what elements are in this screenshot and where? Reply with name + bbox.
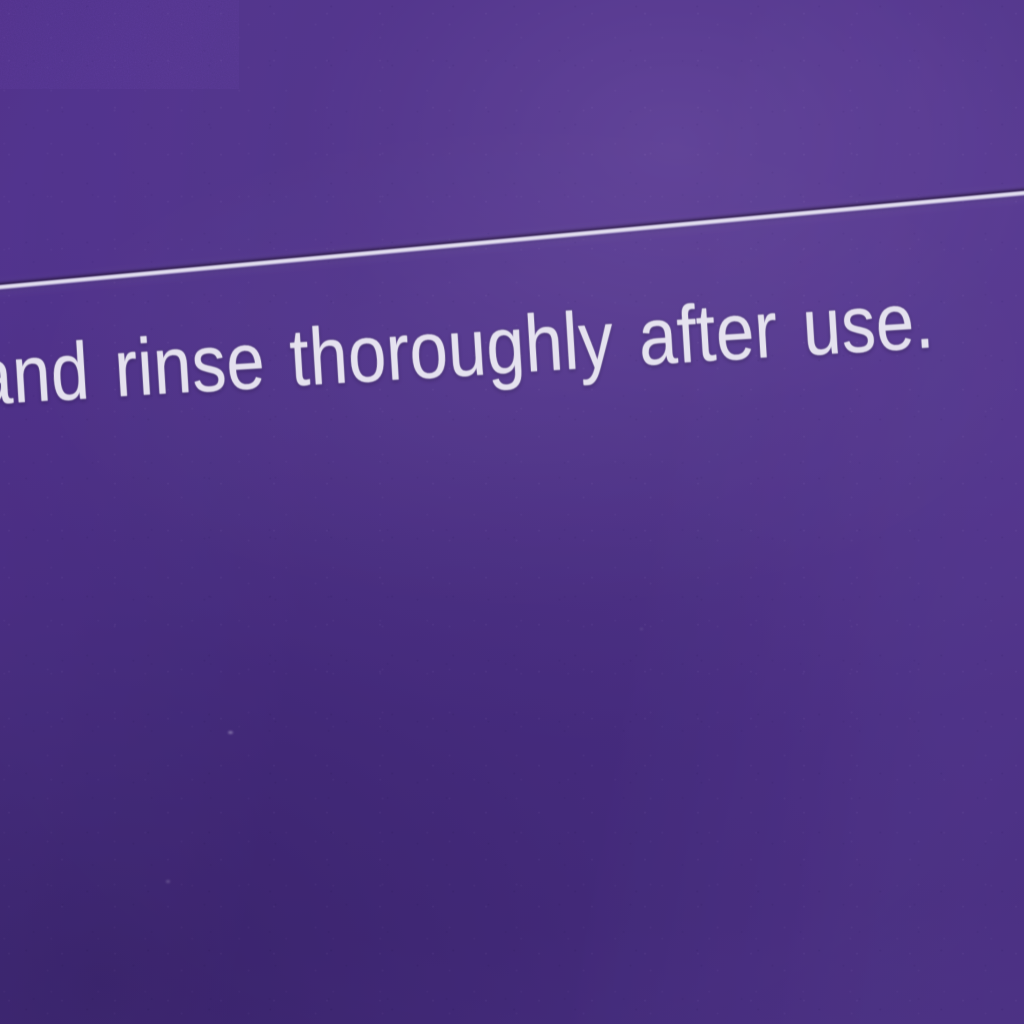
background-warm-highlight	[0, 0, 1024, 1024]
photo-canvas: and rinse thoroughly after use.	[0, 0, 1024, 1024]
